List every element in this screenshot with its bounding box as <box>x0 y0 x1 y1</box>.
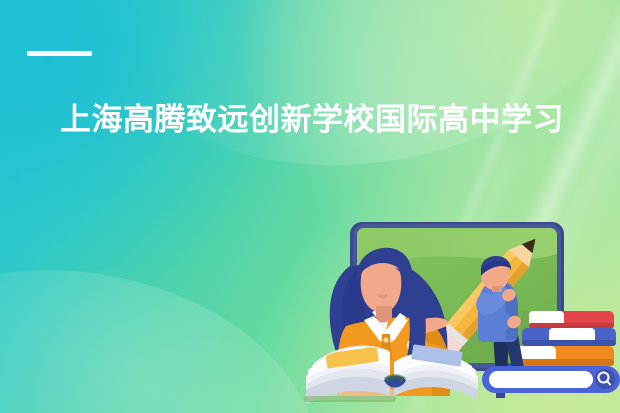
book-middle <box>522 328 616 346</box>
ground-shadow <box>304 396 396 402</box>
search-icon <box>595 369 615 389</box>
book-stack <box>516 311 616 366</box>
search-bar <box>482 366 620 393</box>
page-title: 上海高腾致远创新学校国际高中学习 <box>60 101 620 139</box>
banner: 上海高腾致远创新学校国际高中学习 <box>0 0 620 413</box>
students-learning-illustration <box>300 198 620 413</box>
book-top <box>529 311 614 328</box>
book-bottom <box>516 346 614 366</box>
search-input <box>489 371 593 388</box>
accent-rule <box>27 51 92 56</box>
teacher-button-top <box>383 337 388 342</box>
